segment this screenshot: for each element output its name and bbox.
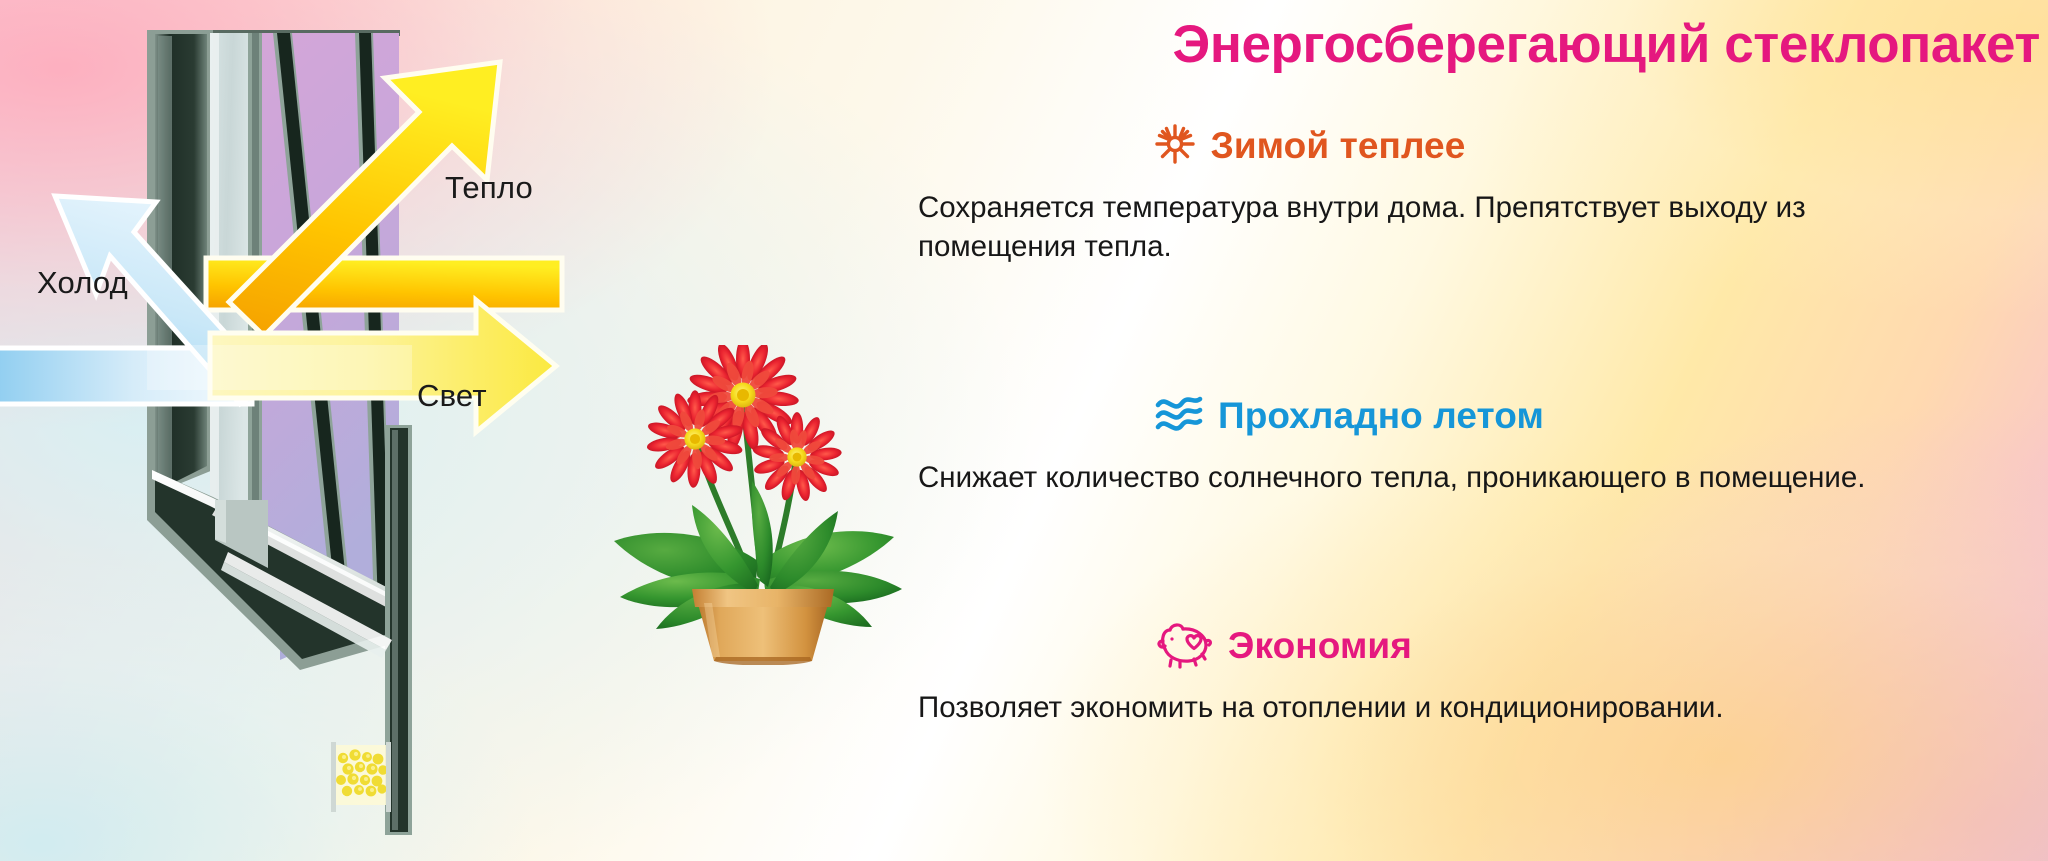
feature-heading-row: Экономия — [900, 620, 2048, 672]
feature-body-text: Позволяет экономить на отоплении и конди… — [900, 688, 2048, 727]
feature-block-savings: Экономия Позволяет экономить на отоплени… — [900, 620, 2048, 727]
feature-block-cool-summer: Прохладно летом Снижает количество солне… — [900, 390, 2048, 497]
feature-heading-label: Зимой теплее — [1211, 125, 1466, 167]
page-title: Энергосберегающий стеклопакет — [900, 14, 2048, 75]
flower-center-core — [690, 434, 700, 444]
diagram-label-cold: Холод — [37, 265, 128, 301]
feature-heading-row: Прохладно летом — [900, 390, 2048, 442]
frame-lower-dark-profile — [300, 655, 330, 836]
gerbera-plant-illustration — [600, 345, 930, 665]
waves-icon — [1154, 392, 1204, 441]
light-transmission-band — [147, 345, 412, 390]
flower-center-core — [793, 453, 802, 462]
flower-pot — [692, 589, 834, 665]
plant-svg — [600, 345, 930, 665]
piggy-bank-heart-icon — [1156, 619, 1214, 674]
content-column: Энергосберегающий стеклопакет — [900, 0, 2048, 861]
feature-body-text: Снижает количество солнечного тепла, про… — [900, 458, 2048, 497]
poster-root: Холод Тепло Свет — [0, 0, 2048, 861]
feature-heading-label: Прохладно летом — [1218, 395, 1544, 437]
feature-heading-label: Экономия — [1228, 625, 1412, 667]
diagram-label-heat: Тепло — [445, 170, 533, 206]
feature-heading-row: Зимой теплее — [900, 120, 2048, 172]
feature-block-winter-warmer: Зимой теплее Сохраняется температура вну… — [900, 120, 2048, 266]
diagram-label-light: Свет — [417, 378, 487, 414]
flower-center-core — [737, 389, 749, 401]
sun-icon — [1153, 122, 1197, 171]
feature-body-text: Сохраняется температура внутри дома. Пре… — [900, 188, 2048, 266]
